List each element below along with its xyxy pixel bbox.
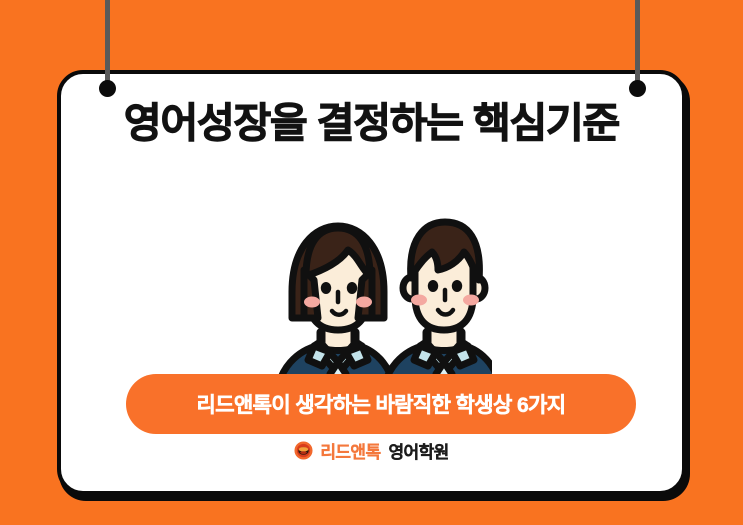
subtitle-banner-text: 리드앤톡이 생각하는 바람직한 학생상 6가지 <box>197 389 566 419</box>
subtitle-banner: 리드앤톡이 생각하는 바람직한 학생상 6가지 <box>126 374 636 434</box>
right-hanging-pin <box>629 80 646 97</box>
left-hanging-pin <box>99 80 116 97</box>
reedntalk-circle-logo-icon <box>294 441 313 460</box>
page-title: 영어성장을 결정하는 핵심기준 <box>61 101 682 146</box>
right-hanging-string <box>635 0 640 92</box>
footer-brand-subtitle: 영어학원 <box>389 438 449 463</box>
poster-card: 영어성장을 결정하는 핵심기준 <box>57 70 686 495</box>
two-students-illustration <box>252 200 492 400</box>
footer-brand-name: 리드앤톡 <box>320 438 380 463</box>
left-hanging-string <box>105 0 110 92</box>
poster-stage: 영어성장을 결정하는 핵심기준 <box>0 0 743 525</box>
footer-logo-lockup: 리드앤톡 영어학원 <box>61 438 682 463</box>
